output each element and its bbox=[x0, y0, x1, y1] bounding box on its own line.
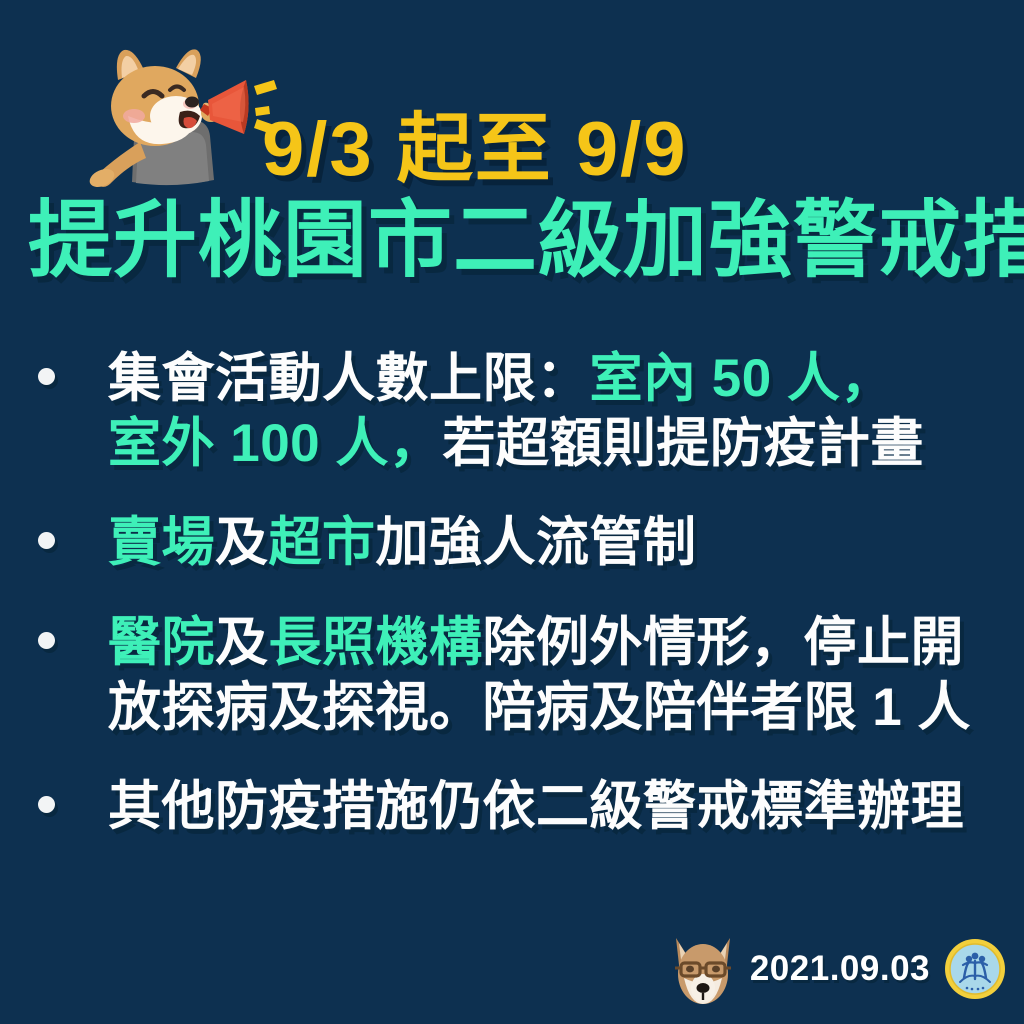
infographic-poster: 9/3 起至 9/9 提升桃園市二級加強警戒措施 集會活動人數上限：室內 50 … bbox=[0, 0, 1024, 1024]
page-title: 提升桃園市二級加強警戒措施 bbox=[28, 196, 1024, 284]
body-text: 加強人流管制 bbox=[376, 513, 697, 572]
shiba-megaphone-icon bbox=[72, 42, 282, 192]
headline-date-range: 9/3 起至 9/9 bbox=[262, 112, 688, 188]
body-text: 其他防疫措施仍依二級警戒標準辦理 bbox=[108, 777, 964, 836]
list-item-line: 集會活動人數上限：室內 50 人， bbox=[108, 346, 1024, 411]
list-item-line: 放探病及探視。陪病及陪伴者限 1 人 bbox=[108, 675, 1024, 740]
body-text: 除例外情形，停止開 bbox=[483, 613, 965, 672]
body-text: 放探病及探視。陪病及陪伴者限 1 人 bbox=[108, 678, 971, 737]
body-text: 及 bbox=[215, 613, 269, 672]
publish-date: 2021.09.03 bbox=[750, 949, 930, 989]
measures-list: 集會活動人數上限：室內 50 人，室外 100 人，若超額則提防疫計畫賣場及超市… bbox=[0, 346, 1024, 873]
highlighted-text: 長照機構 bbox=[269, 613, 483, 672]
list-item-line: 其他防疫措施仍依二級警戒標準辦理 bbox=[108, 774, 1024, 839]
shiba-glasses-avatar-icon bbox=[670, 930, 736, 1008]
list-item: 醫院及長照機構除例外情形，停止開放探病及探視。陪病及陪伴者限 1 人 bbox=[0, 610, 1024, 740]
highlighted-text: 醫院 bbox=[108, 613, 215, 672]
body-text: 集會活動人數上限： bbox=[108, 349, 590, 408]
list-item-line: 醫院及長照機構除例外情形，停止開 bbox=[108, 610, 1024, 675]
list-item: 其他防疫措施仍依二級警戒標準辦理 bbox=[0, 774, 1024, 839]
bullet-dot-icon bbox=[38, 368, 55, 385]
body-text: 及 bbox=[215, 513, 269, 572]
header-row: 9/3 起至 9/9 bbox=[0, 34, 1024, 194]
highlighted-text: 室外 100 人， bbox=[108, 414, 442, 473]
list-item: 賣場及超市加強人流管制 bbox=[0, 510, 1024, 575]
body-text: 若超額則提防疫計畫 bbox=[442, 414, 924, 473]
highlighted-text: 超市 bbox=[269, 513, 376, 572]
bullet-dot-icon bbox=[38, 532, 55, 549]
list-item-line: 室外 100 人，若超額則提防疫計畫 bbox=[108, 411, 1024, 476]
bullet-dot-icon bbox=[38, 796, 55, 813]
bullet-dot-icon bbox=[38, 632, 55, 649]
taoyuan-city-government-emblem-icon bbox=[944, 938, 1006, 1000]
list-item: 集會活動人數上限：室內 50 人，室外 100 人，若超額則提防疫計畫 bbox=[0, 346, 1024, 476]
footer: 2021.09.03 bbox=[670, 926, 1006, 1012]
highlighted-text: 室內 50 人， bbox=[590, 349, 894, 408]
highlighted-text: 賣場 bbox=[108, 513, 215, 572]
list-item-line: 賣場及超市加強人流管制 bbox=[108, 510, 1024, 575]
